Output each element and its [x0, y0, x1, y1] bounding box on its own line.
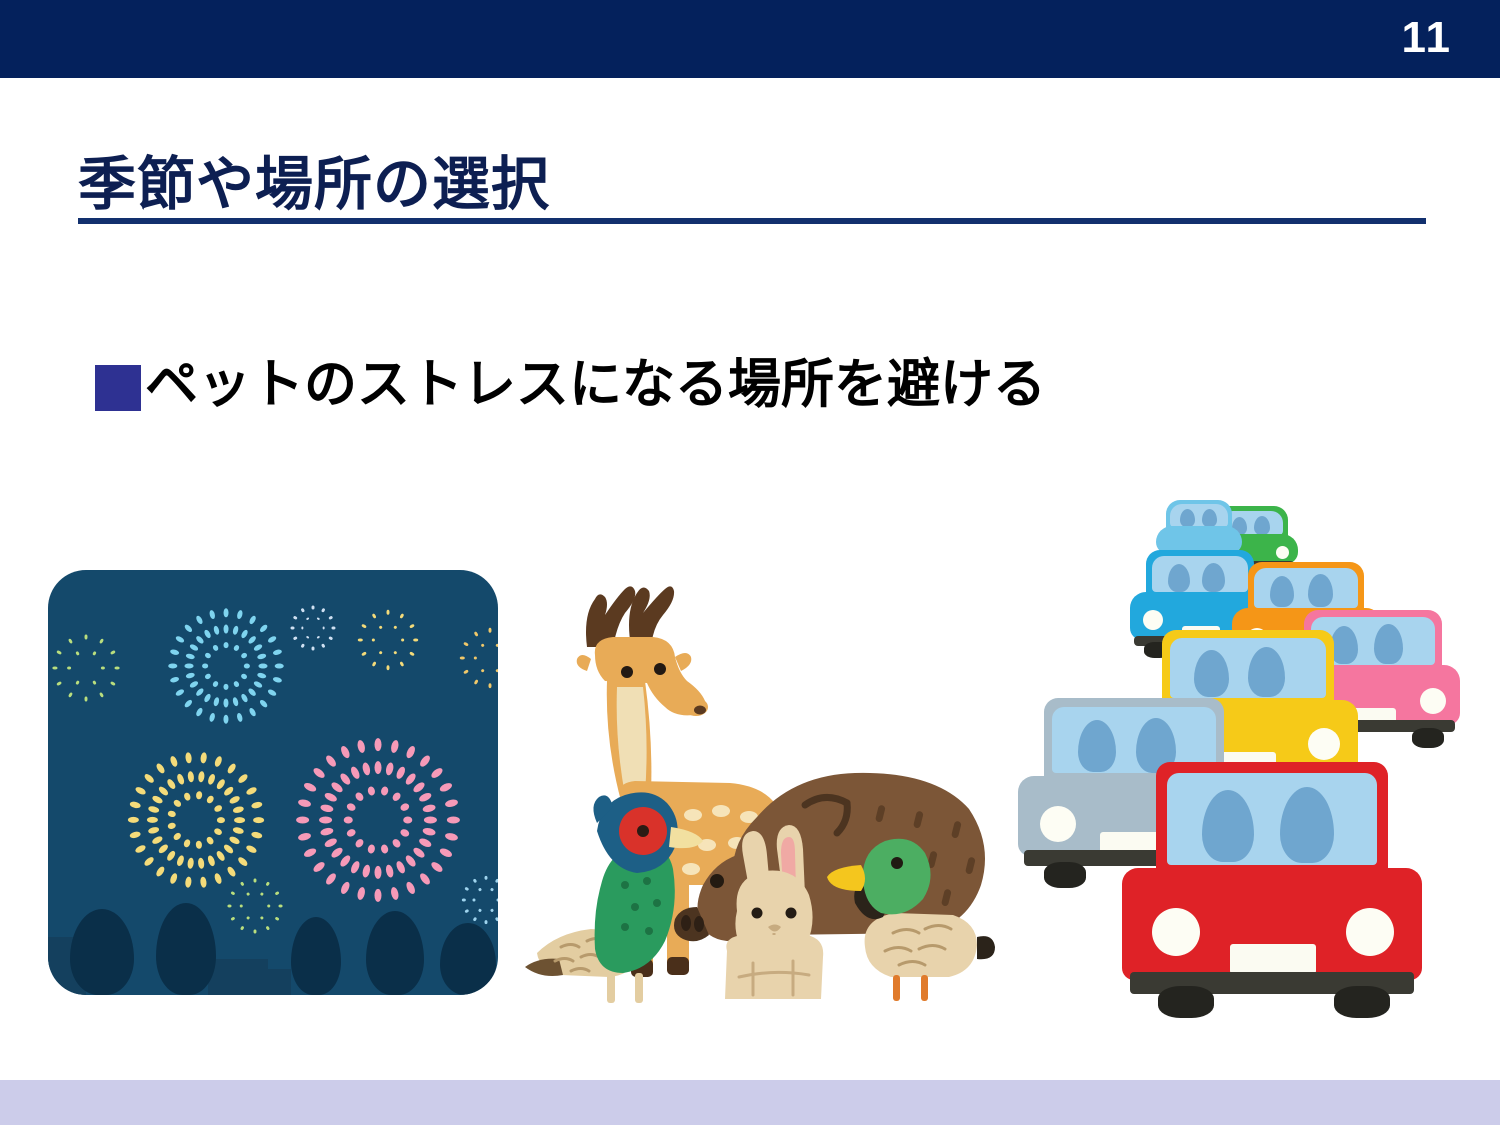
firework-spark [463, 669, 469, 674]
firework-spark [251, 801, 263, 809]
firework-spark [129, 831, 141, 839]
firework-spark [495, 643, 498, 647]
title-block: 季節や場所の選択 [78, 152, 1426, 218]
firework-spark [134, 786, 146, 796]
traffic-jam-illustration [1010, 500, 1460, 1015]
firework-spark [206, 836, 215, 846]
firework-spark [228, 795, 240, 805]
firework-spark [67, 667, 71, 670]
firework-spark [85, 697, 88, 702]
firework-spark [166, 850, 177, 862]
firework-spark [447, 817, 460, 824]
firework-spark [92, 651, 96, 656]
firework-spark [387, 665, 390, 670]
firework-spark [196, 791, 203, 799]
firework-spark [331, 627, 335, 630]
firework-spark [247, 687, 257, 697]
firework-spark [195, 635, 205, 645]
firework-spark [495, 669, 498, 673]
firework-spark [198, 857, 205, 868]
firework-spark [166, 778, 177, 790]
firework-spark [236, 609, 243, 619]
firework-spark [354, 791, 365, 803]
page-number: 11 [1401, 8, 1452, 68]
firework-spark [115, 667, 120, 670]
firework-spark [317, 636, 321, 640]
firework-spark [412, 780, 427, 794]
firework-spark [248, 707, 257, 717]
firework-spark [224, 684, 229, 690]
page-title: 季節や場所の選択 [78, 152, 1426, 218]
firework-spark [339, 745, 351, 760]
firework-spark [212, 680, 220, 688]
firework-spark [206, 795, 215, 805]
firework-spark [168, 664, 177, 669]
firework-spark [75, 680, 79, 685]
firework-spark [413, 639, 418, 642]
firework-spark [209, 712, 216, 722]
firework-spark [306, 636, 310, 640]
firework-spark [224, 642, 229, 648]
firework-spark [372, 639, 375, 642]
firework-spark [349, 860, 361, 875]
firework-spark [338, 854, 352, 869]
firework-spark [143, 856, 155, 868]
firework-spark [345, 828, 356, 838]
slide-canvas: 11 季節や場所の選択 ペットのストレスになる場所を避ける [0, 0, 1500, 1125]
firework-spark [214, 755, 223, 767]
firework-spark [303, 847, 318, 859]
firework-spark [248, 615, 257, 625]
firework-spark [237, 773, 249, 785]
firework-spark [175, 688, 185, 697]
firework-spark [228, 835, 240, 845]
firework-spark [168, 822, 177, 829]
firework-spark [301, 627, 303, 630]
firework-spark [361, 762, 371, 776]
yellow-firework-small-top [358, 610, 418, 670]
firework-spark [259, 623, 269, 633]
firework-spark [168, 810, 177, 817]
firework-spark [151, 795, 163, 805]
firework-spark [356, 739, 366, 753]
firework-spark [439, 781, 454, 793]
firework-spark [176, 773, 185, 785]
firework-spark [202, 664, 208, 669]
firework-spark [473, 878, 478, 883]
firework-spark [254, 878, 257, 882]
firework-spark [110, 681, 116, 686]
person-silhouette [70, 909, 134, 995]
firework-spark [247, 635, 257, 645]
firework-spark [401, 639, 404, 642]
firework-spark [474, 679, 479, 685]
building-silhouette [253, 969, 291, 995]
firework-spark [399, 828, 410, 838]
firework-spark [405, 745, 417, 760]
firework-spark [306, 617, 310, 621]
firework-spark [169, 649, 179, 656]
firework-spark [143, 773, 155, 785]
firework-spark [173, 799, 183, 808]
firework-spark [480, 669, 484, 673]
firework-spark [169, 755, 178, 767]
firework-spark [390, 739, 400, 753]
pink-firework-large [296, 738, 460, 902]
firework-spark [323, 627, 325, 630]
firework-spark [257, 653, 267, 660]
firework-spark [444, 832, 458, 842]
firework-spark [189, 643, 199, 652]
firework-spark [213, 697, 220, 707]
firework-spark [485, 876, 488, 880]
firework-spark [148, 826, 160, 834]
firework-spark [380, 844, 389, 854]
firework-spark [68, 692, 73, 698]
firework-spark [224, 698, 229, 707]
firework-spark [297, 832, 311, 842]
firework-spark [224, 624, 229, 633]
firework-spark [330, 780, 345, 794]
firework-spark [200, 752, 207, 763]
firework-spark [223, 843, 235, 855]
firework-spark [321, 608, 325, 613]
firework-spark [293, 616, 298, 620]
firework-spark [155, 762, 166, 774]
firework-spark [185, 672, 195, 679]
firework-spark [232, 805, 244, 813]
firework-spark [195, 687, 205, 697]
firework-spark [68, 638, 73, 644]
person-silhouette [156, 903, 216, 995]
firework-spark [399, 613, 404, 619]
firework-spark [198, 771, 205, 782]
firework-spark [258, 664, 267, 669]
firework-spark [444, 798, 458, 808]
firework-spark [399, 661, 404, 667]
orange-firework-right [460, 628, 498, 688]
firework-spark [272, 676, 282, 683]
firework-spark [195, 707, 204, 717]
firework-spark [430, 766, 445, 780]
firework-spark [148, 805, 160, 813]
fireworks-festival-illustration [48, 570, 498, 995]
firework-spark [422, 827, 436, 837]
firework-spark [393, 625, 397, 629]
firework-spark [151, 835, 163, 845]
firework-spark [267, 635, 277, 644]
firework-spark [323, 791, 338, 803]
firework-spark [233, 644, 241, 652]
firework-spark [240, 673, 248, 681]
firework-spark [301, 643, 305, 648]
firework-spark [418, 791, 433, 803]
firework-spark [75, 651, 79, 656]
firework-spark [391, 791, 402, 803]
yellow-firework-large [128, 752, 264, 888]
firework-spark [387, 610, 390, 615]
firework-spark [226, 865, 237, 877]
firework-spark [439, 847, 454, 859]
firework-spark [267, 688, 277, 697]
firework-spark [312, 766, 327, 780]
title-underline [78, 218, 1426, 224]
firework-spark [375, 738, 382, 751]
firework-spark [176, 855, 185, 867]
firework-spark [399, 802, 410, 812]
firework-spark [480, 643, 484, 647]
firework-spark [56, 681, 62, 686]
firework-spark [409, 651, 415, 656]
firework-spark [183, 839, 191, 848]
firework-spark [134, 844, 146, 854]
firework-spark [240, 629, 249, 639]
firework-spark [418, 754, 432, 769]
crowd-silhouette-layer [48, 885, 498, 995]
firework-spark [223, 785, 235, 797]
firework-spark [240, 652, 248, 660]
firework-spark [293, 636, 298, 640]
firework-spark [101, 667, 105, 670]
firework-spark [52, 667, 57, 670]
firework-spark [301, 608, 305, 613]
firework-spark [275, 664, 284, 669]
firework-spark [391, 838, 402, 850]
firework-spark [297, 798, 311, 808]
white-firework-small-top [291, 606, 335, 650]
firework-spark [422, 803, 436, 813]
firework-spark [185, 752, 192, 763]
firework-spark [317, 617, 321, 621]
firework-spark [349, 765, 361, 780]
person-silhouette [366, 911, 424, 995]
firework-spark [253, 643, 263, 652]
firework-spark [187, 771, 194, 782]
firework-spark [489, 628, 492, 633]
firework-spark [237, 856, 249, 868]
firework-spark [380, 786, 389, 796]
header-bar [0, 0, 1500, 78]
firework-spark [395, 765, 407, 780]
firework-spark [92, 680, 96, 685]
firework-spark [232, 826, 244, 834]
firework-spark [354, 838, 365, 850]
firework-spark [367, 844, 376, 854]
firework-spark [203, 629, 212, 639]
firework-spark [245, 844, 257, 854]
firework-spark [183, 623, 193, 633]
firework-spark [320, 827, 334, 837]
firework-spark [196, 840, 203, 848]
firework-spark [320, 803, 334, 813]
firework-spark [129, 801, 141, 809]
firework-spark [204, 673, 212, 681]
firework-spark [291, 627, 295, 630]
firework-spark [321, 643, 325, 648]
firework-spark [232, 625, 239, 635]
firework-spark [240, 693, 249, 703]
firework-spark [378, 651, 382, 655]
firework-spark [233, 680, 241, 688]
firework-spark [169, 872, 178, 884]
firework-spark [489, 683, 492, 688]
firework-spark [128, 817, 139, 823]
firework-spark [175, 635, 185, 644]
firework-spark [209, 609, 216, 619]
blue-firework-large [168, 608, 284, 724]
bullet-text: ペットのストレスになる場所を避ける [145, 355, 1046, 415]
firework-spark [157, 785, 169, 797]
firework-spark [147, 817, 158, 823]
firework-spark [213, 804, 222, 813]
wild-animals-illustration [525, 555, 995, 1005]
bullet-row: ペットのストレスになる場所を避ける [95, 355, 1046, 415]
firework-spark [169, 676, 179, 683]
firework-spark [361, 651, 367, 656]
firework-spark [99, 638, 104, 644]
firework-spark [189, 680, 199, 689]
firework-spark [323, 837, 338, 849]
firework-spark [495, 878, 498, 883]
firework-spark [244, 664, 250, 669]
green-firework-small-left [52, 634, 120, 702]
firework-spark [367, 786, 376, 796]
firework-spark [110, 650, 116, 655]
firework-spark [236, 712, 243, 722]
firework-spark [463, 642, 469, 647]
firework-spark [404, 854, 418, 869]
firework-spark [215, 778, 226, 790]
firework-spark [213, 827, 222, 836]
firework-spark [184, 664, 193, 669]
firework-spark [215, 850, 226, 862]
firework-spark [312, 606, 315, 610]
firework-spark [234, 817, 245, 823]
bullet-square-icon [95, 365, 141, 411]
firework-spark [183, 699, 193, 709]
firework-spark [253, 680, 263, 689]
firework-spark [361, 624, 367, 629]
firework-spark [296, 817, 309, 824]
firework-spark [259, 699, 269, 709]
firework-spark [474, 657, 477, 660]
firework-spark [385, 864, 395, 878]
firework-spark [375, 866, 382, 879]
firework-spark [372, 613, 377, 619]
firework-spark [412, 846, 427, 860]
firework-spark [358, 639, 363, 642]
firework-spark [328, 616, 333, 620]
firework-spark [338, 772, 352, 787]
firework-spark [312, 646, 315, 650]
firework-spark [226, 762, 237, 774]
firework-spark [187, 857, 194, 868]
firework-spark [418, 837, 433, 849]
firework-spark [344, 817, 353, 824]
firework-spark [204, 652, 212, 660]
firework-spark [224, 715, 229, 724]
firework-spark [345, 802, 356, 812]
firework-spark [324, 754, 338, 769]
person-silhouette [291, 917, 341, 995]
firework-spark [403, 817, 412, 824]
firework-spark [217, 817, 225, 823]
firework-spark [245, 786, 257, 796]
firework-spark [213, 625, 220, 635]
firework-spark [395, 860, 407, 875]
firework-spark [424, 817, 437, 824]
firework-spark [214, 872, 223, 884]
firework-spark [85, 634, 88, 639]
firework-spark [312, 860, 327, 874]
firework-spark [385, 762, 395, 776]
firework-spark [474, 631, 479, 637]
firework-spark [253, 817, 264, 823]
firework-spark [251, 831, 263, 839]
firework-spark [99, 692, 104, 698]
person-silhouette [440, 923, 496, 995]
firework-spark [232, 697, 239, 707]
firework-spark [372, 661, 377, 667]
firework-spark [378, 625, 382, 629]
firework-spark [56, 650, 62, 655]
firework-spark [272, 649, 282, 656]
firework-spark [224, 608, 229, 617]
firework-spark [203, 693, 212, 703]
firework-spark [393, 651, 397, 655]
firework-spark [375, 761, 382, 774]
car-red [1122, 762, 1422, 1012]
firework-spark [303, 781, 318, 793]
firework-spark [212, 644, 220, 652]
firework-spark [430, 860, 445, 874]
firework-spark [183, 792, 191, 801]
firework-spark [155, 865, 166, 877]
firework-spark [173, 832, 183, 841]
footer-bar [0, 1080, 1500, 1125]
firework-spark [409, 624, 415, 629]
firework-spark [257, 672, 267, 679]
firework-spark [319, 817, 332, 824]
firework-spark [207, 855, 216, 867]
firework-spark [195, 615, 204, 625]
firework-spark [157, 843, 169, 855]
firework-spark [361, 864, 371, 878]
wild-animals-svg [525, 555, 995, 1005]
firework-spark [207, 773, 216, 785]
firework-spark [185, 653, 195, 660]
firework-spark [328, 636, 333, 640]
firework-spark [460, 657, 465, 660]
